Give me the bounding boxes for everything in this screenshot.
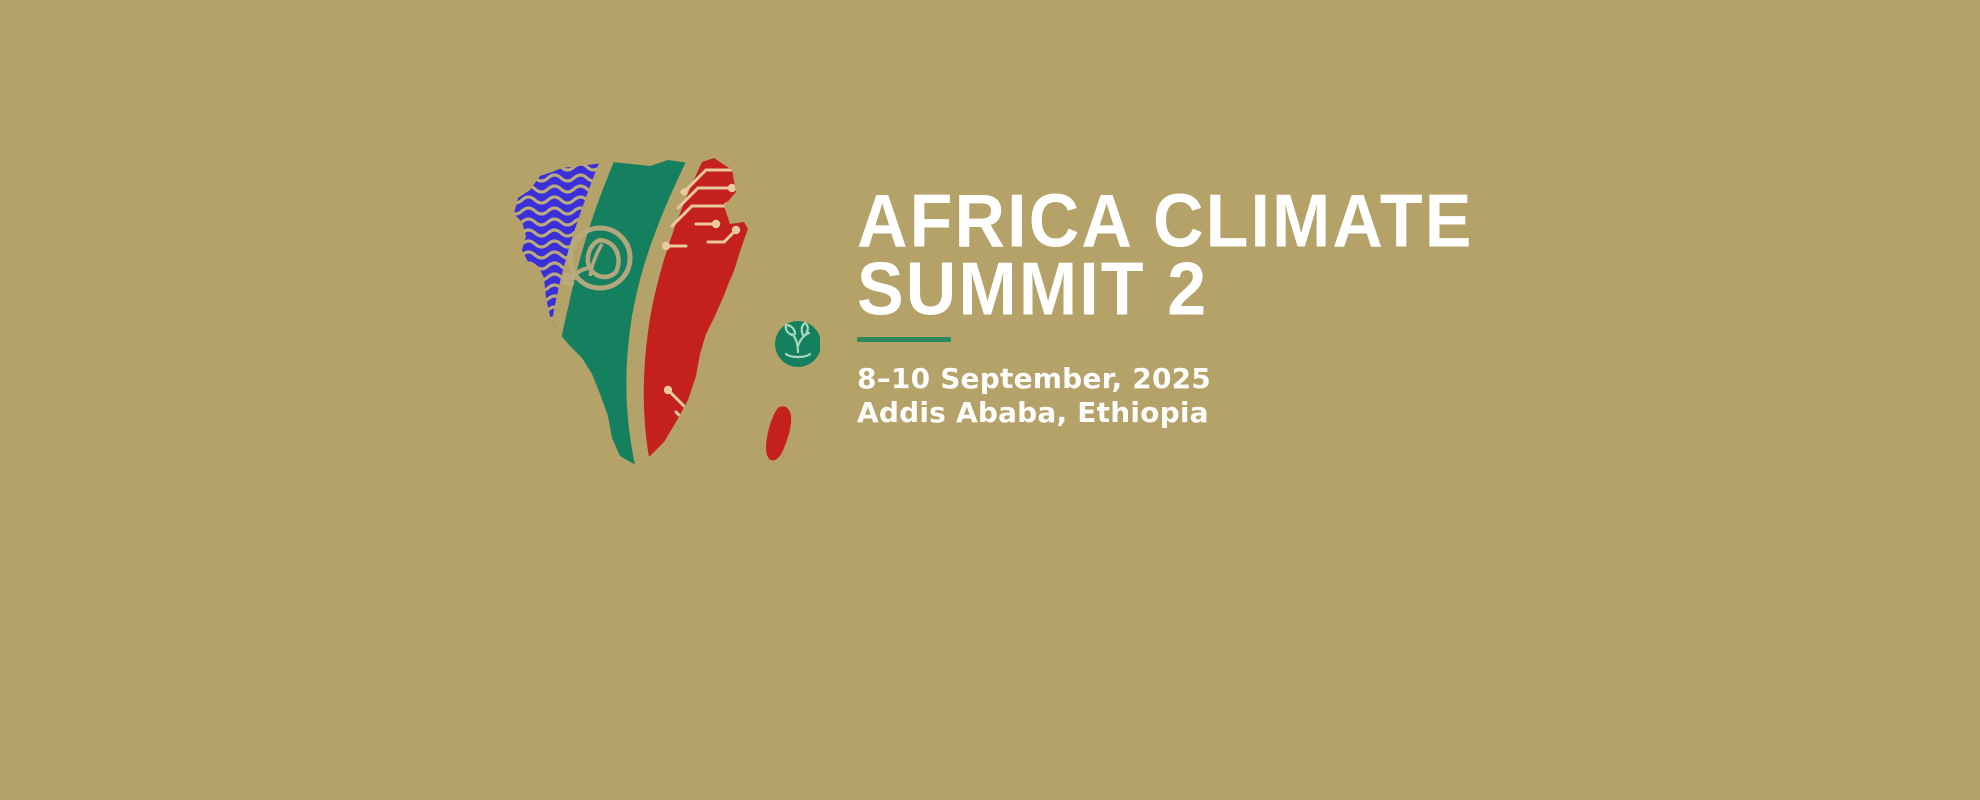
title-block: AFRICA CLIMATE SUMMIT 2 8–10 September, … bbox=[857, 185, 1477, 430]
event-location: Addis Ababa, Ethiopia bbox=[857, 396, 1477, 430]
event-details: 8–10 September, 2025 Addis Ababa, Ethiop… bbox=[857, 362, 1477, 430]
banner-composition: AFRICA CLIMATE SUMMIT 2 8–10 September, … bbox=[500, 140, 1500, 490]
page-title-line-2: SUMMIT 2 bbox=[857, 253, 1514, 324]
madagascar-island bbox=[766, 406, 791, 460]
accent-rule bbox=[857, 337, 951, 342]
africa-climate-summit-logo bbox=[500, 150, 820, 490]
event-dates: 8–10 September, 2025 bbox=[857, 362, 1477, 396]
seedling-medallion bbox=[775, 321, 820, 367]
event-banner: AFRICA CLIMATE SUMMIT 2 8–10 September, … bbox=[0, 0, 1980, 800]
page-title-line-1: AFRICA CLIMATE bbox=[857, 185, 1514, 256]
